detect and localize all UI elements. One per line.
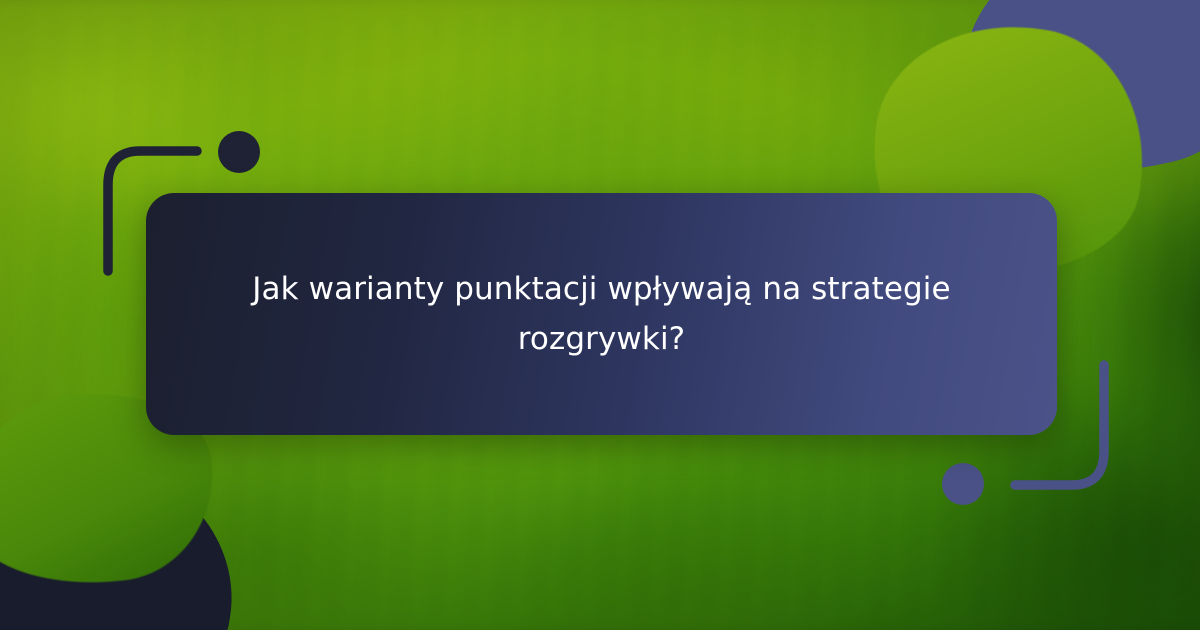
question-card: Jak warianty punktacji wpływają na strat… <box>146 193 1057 435</box>
social-card-canvas: Jak warianty punktacji wpływają na strat… <box>0 0 1200 630</box>
decorative-dot-top-left-icon <box>218 131 260 173</box>
decorative-dot-bottom-right-icon <box>942 463 984 505</box>
question-title: Jak warianty punktacji wpływają na strat… <box>217 264 987 364</box>
